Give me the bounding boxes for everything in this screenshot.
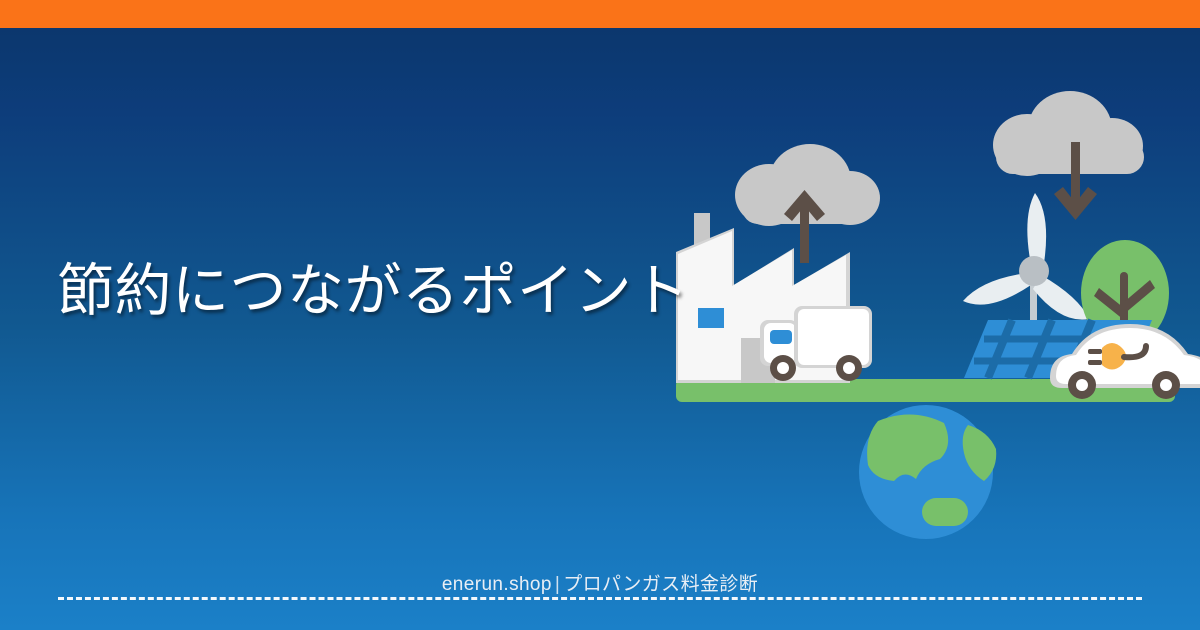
footer-divider [58, 597, 1142, 600]
top-accent-bar [0, 0, 1200, 28]
globe-icon [859, 405, 996, 539]
footer-separator: | [552, 574, 563, 595]
footer-tagline: プロパンガス料金診断 [563, 574, 758, 595]
footer-site: enerun.shop [442, 574, 552, 595]
emission-cloud-up-icon [735, 144, 880, 263]
illustration [650, 80, 1200, 540]
absorption-cloud-down-icon [993, 91, 1144, 220]
footer: enerun.shop|プロパンガス料金診断 [0, 569, 1200, 596]
page-title: 節約につながるポイント [57, 262, 690, 322]
slide-canvas: 節約につながるポイント enerun.shop|プロパンガス料金診断 [0, 0, 1200, 630]
